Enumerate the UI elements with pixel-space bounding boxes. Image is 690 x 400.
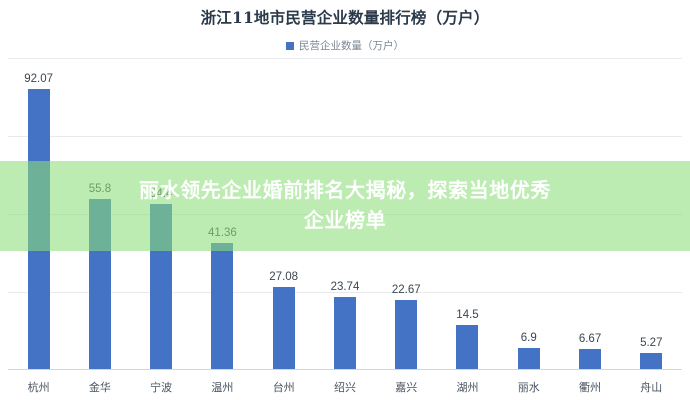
bar-rect[interactable] (518, 348, 540, 369)
bar-rect[interactable] (334, 297, 356, 369)
x-tick-label: 宁波 (131, 372, 192, 398)
bar-value-label: 23.74 (314, 281, 375, 293)
x-tick-label: 杭州 (8, 372, 69, 398)
bar-rect[interactable] (456, 325, 478, 369)
chart-legend: 民营企业数量（万户） (0, 38, 690, 53)
x-axis-line (8, 369, 682, 370)
bar-rect[interactable] (273, 287, 295, 369)
bar-rect[interactable] (640, 353, 662, 369)
overlay-banner: 丽水领先企业婚前排名大揭秘，探索当地优秀 企业榜单 (0, 161, 690, 251)
x-axis-labels: 杭州金华宁波温州台州绍兴嘉兴湖州丽水衢州舟山 (8, 372, 682, 398)
legend-label: 民营企业数量（万户） (299, 38, 404, 53)
bar-value-label: 5.27 (621, 337, 682, 349)
x-tick-label: 金华 (69, 372, 130, 398)
bar-value-label: 6.67 (559, 333, 620, 345)
x-tick-label: 台州 (253, 372, 314, 398)
bar-value-label: 27.08 (253, 271, 314, 283)
bar-value-label: 6.9 (498, 332, 559, 344)
bar-value-label: 22.67 (376, 284, 437, 296)
chart-title: 浙江11地市民营企业数量排行榜（万户） (0, 6, 690, 28)
x-tick-label: 绍兴 (314, 372, 375, 398)
legend-swatch-icon (286, 42, 294, 50)
overlay-headline-line-1: 丽水领先企业婚前排名大揭秘，探索当地优秀 (139, 177, 551, 205)
x-tick-label: 嘉兴 (376, 372, 437, 398)
bar-rect[interactable] (211, 243, 233, 369)
bar-rect[interactable] (579, 349, 601, 369)
chart-container: 浙江11地市民营企业数量排行榜（万户） 民营企业数量（万户） 92.0755.8… (0, 0, 690, 400)
bar-rect[interactable] (395, 300, 417, 369)
x-tick-label: 温州 (192, 372, 253, 398)
bar-value-label: 92.07 (8, 73, 69, 85)
x-tick-label: 舟山 (621, 372, 682, 398)
bar-value-label: 14.5 (437, 309, 498, 321)
x-tick-label: 丽水 (498, 372, 559, 398)
x-tick-label: 衢州 (559, 372, 620, 398)
overlay-headline-line-2: 企业榜单 (304, 207, 386, 235)
x-tick-label: 湖州 (437, 372, 498, 398)
